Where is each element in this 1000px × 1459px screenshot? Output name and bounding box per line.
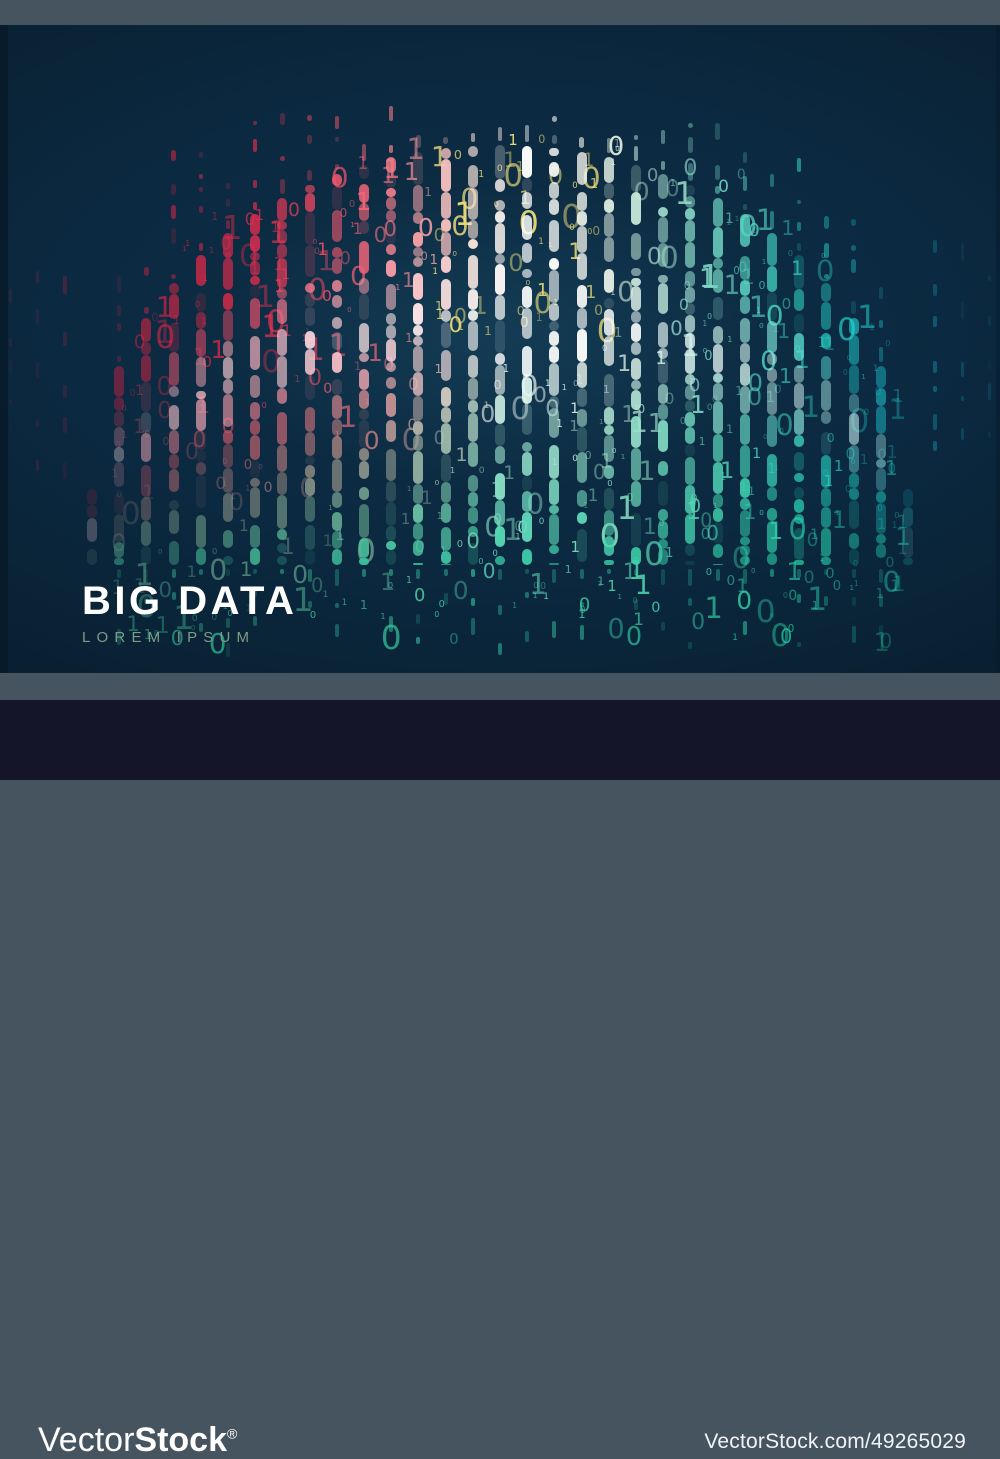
bar-tail-segment — [389, 106, 393, 122]
bar-segment — [332, 419, 342, 436]
bar-segment — [277, 288, 287, 299]
bar-tail-segment — [280, 156, 284, 161]
bar-segment — [359, 165, 369, 179]
bar-segment — [305, 550, 315, 565]
bar-segment — [413, 396, 423, 421]
bar-segment — [386, 157, 396, 173]
bar-tail-segment — [144, 267, 148, 275]
bar-faint-segment — [9, 289, 13, 304]
bar-segment — [658, 348, 668, 359]
bar-segment — [386, 526, 396, 541]
bar-drop-segment — [580, 569, 584, 579]
bar-segment — [277, 258, 287, 288]
bar-drop-segment — [444, 569, 448, 576]
bar-segment — [821, 302, 831, 330]
binary-digit: 1 — [543, 592, 549, 601]
bar-tail-segment — [117, 276, 121, 293]
binary-digit: 0 — [816, 257, 835, 286]
bar-segment — [713, 258, 723, 268]
bar-segment — [740, 498, 750, 510]
bar-segment — [740, 414, 750, 445]
bar-segment — [441, 159, 451, 192]
bar-segment — [141, 546, 151, 565]
bar-segment — [876, 534, 886, 544]
bar-segment — [250, 375, 260, 398]
binary-digit: 1 — [585, 284, 596, 302]
bar-segment — [577, 362, 587, 387]
binary-digit: 0 — [748, 222, 759, 240]
bar-segment — [441, 148, 451, 159]
bar-segment — [849, 533, 859, 549]
bar-faint-segment — [933, 316, 937, 328]
bar-segment — [740, 386, 750, 414]
bar-segment — [577, 285, 587, 308]
bar-segment — [196, 475, 206, 508]
bar-segment — [685, 333, 695, 350]
bar-segment — [740, 214, 750, 247]
bar-segment — [658, 509, 668, 520]
bar-faint-segment — [63, 462, 67, 479]
bar-segment — [658, 481, 668, 506]
bar-segment — [577, 452, 587, 483]
bar-segment — [495, 211, 505, 223]
bar-segment — [250, 487, 260, 518]
binary-digit: 0 — [783, 591, 788, 599]
bar-segment — [495, 353, 505, 365]
bar-segment — [114, 411, 124, 427]
bar-segment — [549, 346, 559, 363]
bar-segment — [223, 493, 233, 522]
bar-segment — [767, 368, 777, 382]
binary-digit: 0 — [706, 568, 712, 578]
binary-digit: 1 — [857, 301, 878, 333]
binary-digit: 0 — [885, 556, 894, 570]
binary-digit: 1 — [810, 529, 819, 543]
bar-segment — [522, 512, 532, 542]
bar-segment — [658, 207, 668, 217]
bar-faint-segment — [933, 386, 937, 392]
binary-digit: 0 — [453, 250, 458, 257]
bar-tail-segment — [743, 204, 747, 210]
bar-segment — [876, 406, 886, 434]
bar-segment — [250, 420, 260, 435]
bar-segment — [386, 222, 396, 243]
bar-segment — [821, 528, 831, 557]
bar-segment — [685, 303, 695, 315]
bar-segment — [685, 315, 695, 333]
bar-segment — [631, 165, 641, 192]
bar-segment — [604, 269, 614, 293]
bar-drop-segment — [580, 602, 584, 606]
binary-digit: 1 — [503, 465, 515, 484]
binary-digit: 0 — [310, 611, 316, 621]
bar-segment — [495, 526, 505, 548]
bar-segment — [522, 452, 532, 476]
bar-drop-segment — [362, 569, 366, 577]
bar-segment — [141, 465, 151, 497]
bar-segment — [522, 146, 532, 178]
bar-segment — [87, 549, 97, 565]
bar-segment — [549, 182, 559, 199]
bar-segment — [223, 258, 233, 290]
bar-drop-segment — [770, 569, 774, 577]
binary-digit: 1 — [211, 212, 218, 222]
binary-digit: 1 — [185, 239, 190, 247]
binary-digit: 1 — [860, 454, 868, 467]
bar-segment — [794, 528, 804, 560]
bar-segment — [305, 283, 315, 292]
bar-segment — [549, 199, 559, 215]
bar-segment — [468, 188, 478, 220]
binary-digit: 1 — [699, 437, 706, 448]
bar-segment — [794, 289, 804, 311]
bar-drop-segment — [770, 613, 774, 618]
binary-digit: 0 — [733, 266, 740, 276]
bar-segment — [332, 295, 342, 308]
logo-bold-part: Stock — [134, 1421, 227, 1459]
binary-digit: 1 — [515, 532, 520, 540]
bar-segment — [305, 407, 315, 432]
bar-tail-segment — [770, 211, 774, 228]
bar-segment — [740, 445, 750, 479]
bar-tail-segment — [226, 220, 230, 228]
page-title: BIG DATA — [82, 581, 297, 621]
artwork-panel: 1011011111010101001101010100100110111111… — [0, 25, 1000, 673]
bar-segment — [277, 230, 287, 244]
bar-faint-segment — [933, 240, 937, 252]
bar-segment — [114, 366, 124, 397]
bar-segment — [549, 162, 559, 177]
bar-drop-segment — [688, 598, 692, 606]
bar-segment — [876, 459, 886, 468]
bar-segment — [413, 563, 423, 565]
bar-segment — [196, 450, 206, 462]
bar-faint-segment — [988, 383, 992, 400]
binary-digit: 1 — [892, 574, 906, 595]
bar-segment — [740, 478, 750, 498]
bar-segment — [114, 514, 124, 542]
bar-segment — [713, 326, 723, 344]
bar-segment — [386, 420, 396, 441]
bar-segment — [495, 556, 505, 565]
binary-digit: 0 — [833, 580, 841, 593]
bar-segment — [903, 558, 913, 565]
binary-digit: 0 — [707, 404, 713, 413]
bar-segment — [386, 502, 396, 525]
bar-segment — [196, 293, 206, 312]
bar-segment — [468, 355, 478, 378]
bar-drop-segment — [471, 598, 475, 606]
bar-faint-segment — [36, 309, 40, 325]
bar-segment — [631, 547, 641, 565]
bar-segment — [413, 232, 423, 247]
bar-segment — [577, 211, 587, 226]
bar-segment — [631, 380, 641, 390]
bar-segment — [441, 482, 451, 503]
bar-segment — [767, 454, 777, 487]
bar-faint-segment — [9, 399, 13, 405]
bar-tail-segment — [715, 165, 719, 180]
registered-trademark-icon: ® — [227, 1426, 237, 1442]
binary-digit: 0 — [626, 625, 642, 651]
bar-segment — [577, 427, 587, 452]
bar-segment — [359, 409, 369, 420]
bar-segment — [114, 542, 124, 557]
bar-segment — [441, 503, 451, 522]
binary-digit: 1 — [779, 366, 792, 387]
bar-segment — [386, 244, 396, 256]
bar-segment — [577, 226, 587, 253]
binary-digit: 1 — [869, 324, 875, 333]
bar-segment — [849, 473, 859, 488]
bar-faint-segment — [988, 276, 992, 281]
bar-segment — [495, 145, 505, 179]
bar-segment — [441, 232, 451, 256]
binary-digit: 1 — [725, 213, 734, 227]
bar-segment — [767, 321, 777, 352]
bar-segment — [685, 271, 695, 286]
binary-digit: 1 — [886, 445, 897, 463]
bar-segment — [386, 210, 396, 223]
bar-faint-segment — [988, 361, 992, 370]
bar-tail-segment — [144, 307, 148, 313]
bar-drop-segment — [308, 569, 312, 582]
binary-digit: 0 — [607, 479, 612, 487]
bar-segment — [441, 192, 451, 219]
bar-segment — [305, 185, 315, 193]
bar-segment — [305, 193, 315, 212]
binary-digit: 0 — [756, 597, 776, 628]
bar-faint-segment — [9, 360, 13, 375]
bar-segment — [196, 357, 206, 387]
bar-segment — [332, 186, 342, 209]
bar-segment — [250, 336, 260, 370]
binary-digit: 0 — [311, 576, 323, 596]
bar-faint-segment — [63, 417, 67, 433]
bar-segment — [196, 515, 206, 548]
bar-segment — [604, 309, 614, 336]
binary-digit: 1 — [578, 609, 585, 621]
binary-digit: 1 — [849, 584, 854, 591]
binary-digit: 1 — [512, 601, 517, 609]
bar-segment — [549, 363, 559, 396]
bar-drop-segment — [416, 569, 420, 579]
bar-tail-segment — [171, 184, 175, 195]
bar-segment — [549, 396, 559, 408]
bar-tail-segment — [253, 180, 257, 188]
bar-segment — [468, 146, 478, 157]
binary-digit: 0 — [572, 182, 577, 191]
binary-digit: 0 — [569, 224, 574, 233]
bar-segment — [522, 269, 532, 277]
bar-segment — [305, 465, 315, 478]
bar-segment — [604, 435, 614, 462]
binary-digit: 1 — [536, 312, 543, 323]
bar-tail-segment — [715, 186, 719, 194]
bar-segment — [332, 379, 342, 395]
bar-segment — [577, 253, 587, 280]
bar-drop-segment — [498, 569, 502, 580]
bar-segment — [631, 513, 641, 547]
binary-digit: 0 — [736, 589, 752, 614]
bar-tail-segment — [824, 216, 828, 229]
bar-segment — [876, 503, 886, 534]
bar-segment — [413, 540, 423, 556]
bar-segment — [250, 276, 260, 285]
bar-segment — [522, 286, 532, 308]
bar-segment — [577, 409, 587, 427]
bar-segment — [441, 564, 451, 565]
bar-tail-segment — [171, 150, 175, 161]
artwork-left-border — [0, 25, 8, 673]
bar-segment — [277, 388, 287, 404]
binary-digit: 1 — [590, 178, 598, 191]
bar-segment — [740, 296, 750, 314]
bar-segment — [631, 390, 641, 410]
bar-segment — [604, 298, 614, 309]
bar-segment — [87, 489, 97, 505]
bar-tail-segment — [797, 243, 801, 251]
binary-digit: 1 — [368, 341, 383, 365]
binary-digit: 1 — [598, 580, 603, 587]
bar-segment — [495, 223, 505, 254]
binary-digit: 0 — [727, 575, 736, 589]
bar-segment — [277, 221, 287, 230]
bar-segment — [577, 152, 587, 185]
binary-digit: 1 — [749, 293, 768, 323]
bar-segment — [903, 507, 913, 527]
bar-tail-segment — [362, 144, 366, 160]
page-subtitle: LOREM IPSUM — [82, 630, 297, 645]
bar-segment — [141, 433, 151, 462]
title-block: BIG DATA LOREM IPSUM — [82, 581, 297, 645]
bar-faint-segment — [933, 284, 937, 296]
bar-segment — [713, 544, 723, 557]
bar-segment — [740, 280, 750, 296]
bar-segment — [549, 563, 559, 565]
bar-segment — [332, 332, 342, 350]
binary-digit: 1 — [614, 327, 623, 340]
footer-bar: VectorStock® VectorStock.com/49265029 — [0, 700, 1000, 780]
bar-segment — [169, 500, 179, 510]
bar-segment — [468, 220, 478, 239]
bar-segment — [468, 310, 478, 320]
bar-segment — [305, 375, 315, 400]
bar-segment — [631, 311, 641, 323]
binary-digit: 1 — [888, 395, 906, 424]
bar-segment — [821, 356, 831, 380]
bar-segment — [386, 362, 396, 372]
bar-segment — [441, 350, 451, 381]
bar-segment — [277, 556, 287, 565]
binary-digit: 1 — [726, 424, 733, 436]
bar-tail-segment — [879, 287, 883, 299]
binary-digit: 0 — [503, 161, 523, 192]
bar-drop-segment — [389, 616, 393, 632]
bar-segment — [223, 556, 233, 565]
bar-drop-segment — [552, 621, 556, 638]
bar-segment — [549, 220, 559, 252]
bar-segment — [468, 165, 478, 188]
bar-segment — [441, 423, 451, 454]
binary-digit: 0 — [888, 464, 896, 477]
bar-segment — [577, 529, 587, 562]
binary-digit: 1 — [450, 466, 455, 474]
bar-segment — [794, 487, 804, 499]
binary-digit: 1 — [670, 179, 676, 189]
binary-bar-field: 1011011111010101001101010100100110111111… — [0, 25, 1000, 673]
bar-segment — [413, 346, 423, 371]
bar-segment — [332, 395, 342, 420]
binary-digit: 0 — [414, 587, 425, 605]
bar-tail-segment — [607, 138, 611, 153]
bar-segment — [631, 358, 641, 380]
bar-segment — [713, 227, 723, 258]
bar-segment — [658, 275, 668, 284]
bar-segment — [141, 318, 151, 343]
binary-digit: 1 — [565, 564, 572, 575]
bar-segment — [305, 212, 315, 245]
bar-segment — [277, 495, 287, 529]
bar-segment — [740, 318, 750, 343]
bar-segment — [549, 545, 559, 554]
bar-tail-segment — [797, 200, 801, 204]
bar-segment — [468, 321, 478, 351]
binary-digit: 0 — [454, 149, 462, 162]
binary-digit: 1 — [405, 332, 413, 344]
bar-segment — [577, 308, 587, 329]
bar-faint-segment — [9, 338, 13, 347]
bar-segment — [250, 261, 260, 276]
bar-faint-segment — [933, 414, 937, 430]
bar-segment — [413, 152, 423, 185]
bar-segment — [495, 200, 505, 211]
bar-segment — [767, 508, 777, 521]
bar-segment — [250, 252, 260, 262]
bar-segment — [740, 537, 750, 545]
binary-digit: 1 — [424, 186, 432, 198]
bar-segment — [794, 452, 804, 470]
bar-segment — [250, 214, 260, 236]
bar-segment — [359, 353, 369, 363]
bar-segment — [767, 233, 777, 266]
bar-segment — [849, 318, 859, 335]
bar-segment — [196, 255, 206, 285]
binary-digit: 0 — [707, 313, 712, 321]
bar-segment — [386, 313, 396, 325]
bar-drop-segment — [879, 625, 883, 639]
bar-segment — [522, 442, 532, 452]
bar-tail-segment — [851, 301, 855, 314]
bar-segment — [740, 343, 750, 363]
bar-segment — [332, 258, 342, 273]
bar-segment — [141, 342, 151, 355]
bar-segment — [658, 359, 668, 385]
bar-segment — [658, 404, 668, 420]
bar-drop-segment — [552, 569, 556, 583]
bar-segment — [577, 512, 587, 524]
bar-segment — [413, 504, 423, 523]
bar-segment — [549, 408, 559, 437]
bar-tail-segment — [824, 274, 828, 279]
binary-digit: 0 — [533, 385, 547, 407]
bar-drop-segment — [852, 569, 856, 578]
binary-digit: 1 — [209, 246, 214, 254]
bar-segment — [522, 243, 532, 263]
bar-segment — [685, 349, 695, 373]
binary-digit: 1 — [457, 322, 464, 333]
binary-digit: 0 — [388, 581, 393, 589]
